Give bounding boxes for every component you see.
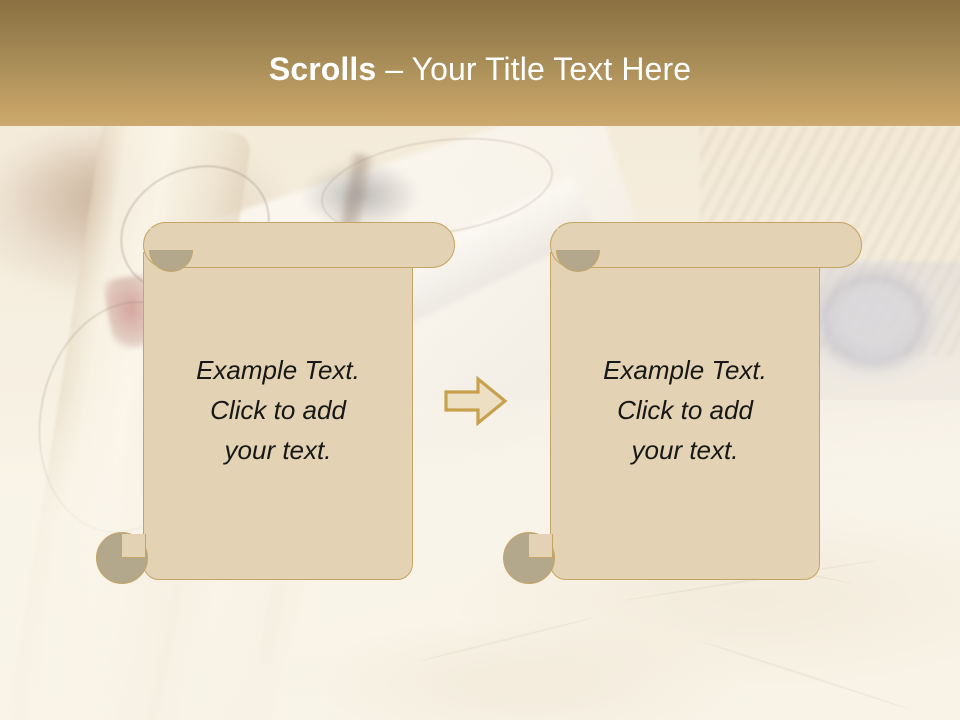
scroll-text-left-line-2: Click to add [152,390,404,430]
scroll-top-curl-mask-right [557,228,599,250]
scroll-text-left[interactable]: Example Text. Click to add your text. [152,350,404,470]
scroll-text-left-line-1: Example Text. [152,350,404,390]
scroll-text-right[interactable]: Example Text. Click to add your text. [559,350,811,470]
scroll-text-right-line-3: your text. [559,430,811,470]
scroll-bottom-curl-notch-right [529,534,553,558]
scroll-text-right-line-2: Click to add [559,390,811,430]
scroll-text-right-line-1: Example Text. [559,350,811,390]
scroll-text-left-line-3: your text. [152,430,404,470]
slide-canvas: Scrolls – Your Title Text Here Example T… [0,0,960,720]
right-arrow-icon [444,376,508,426]
scroll-bottom-curl-notch-left [122,534,146,558]
scroll-top-curl-mask-left [150,228,192,250]
